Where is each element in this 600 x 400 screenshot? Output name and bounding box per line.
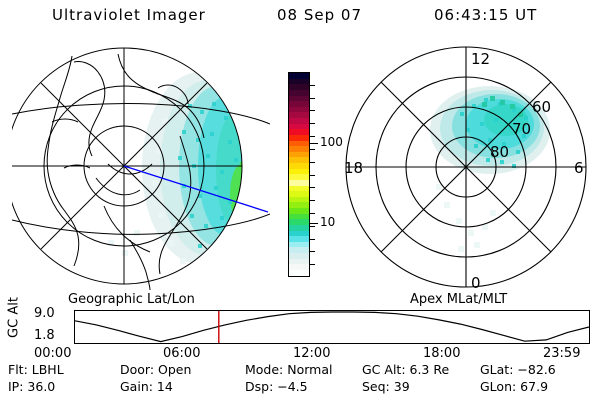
orbit-plot-box[interactable] (74, 310, 590, 344)
magnetic-panel-title: Apex MLat/MLT (410, 292, 507, 307)
colorbar-ticks (310, 72, 318, 277)
colorbar-scale[interactable] (288, 72, 310, 277)
orbit-xtick-0: 00:00 (34, 346, 71, 361)
status-glat: GLat: −82.6 (480, 362, 556, 377)
status-door: Door: Open (120, 362, 191, 377)
status-row-2: IP: 36.0 Gain: 14 Dsp: −4.5 Seq: 39 GLon… (0, 379, 600, 397)
colorbar-minor-tick-5 (310, 136, 315, 137)
geographic-panel-title: Geographic Lat/Lon (68, 292, 195, 307)
magnetic-polar-panel[interactable]: 12 6 0 18 60 70 80 (340, 42, 592, 292)
mlat-label-60: 60 (532, 98, 551, 116)
header-bar: Ultraviolet Imager 08 Sep 07 06:43:15 UT (0, 6, 600, 32)
colorbar-minor-tick-1 (310, 85, 315, 86)
mlt-label-12: 12 (471, 50, 490, 68)
magnetic-polar-svg: 12 6 0 18 60 70 80 (340, 42, 592, 292)
colorbar-major-tick-1 (310, 223, 318, 224)
status-seq: Seq: 39 (362, 379, 410, 394)
status-flight: Flt: LBHL (8, 362, 64, 377)
colorbar-minor-tick-13 (310, 239, 315, 240)
mlt-spokes (346, 47, 586, 287)
mlat-label-70: 70 (512, 120, 531, 138)
orbit-y-axis-label: GC Alt (7, 286, 22, 350)
orbit-plot-svg (75, 311, 589, 343)
orbit-altitude-panel[interactable]: Geographic Lat/Lon Apex MLat/MLT GC Alt … (0, 292, 600, 356)
colorbar-minor-tick-10 (310, 200, 315, 201)
status-gain: Gain: 14 (120, 379, 173, 394)
graticule-layer (12, 48, 270, 284)
colorbar-minor-tick-4 (310, 123, 315, 124)
status-gc-alt: GC Alt: 6.3 Re (362, 362, 449, 377)
colorbar-minor-tick-8 (310, 175, 315, 176)
colorbar-tick-label-10: 10 (320, 216, 335, 228)
mlat-label-80: 80 (490, 143, 509, 161)
orbit-altitude-curve (75, 312, 589, 342)
status-row-1: Flt: LBHL Door: Open Mode: Normal GC Alt… (0, 362, 600, 380)
geographic-map-svg (12, 44, 270, 292)
status-ip: IP: 36.0 (8, 379, 55, 394)
orbit-xtick-3: 18:00 (423, 346, 460, 361)
orbit-xtick-1: 06:00 (163, 346, 200, 361)
colorbar-band-35 (289, 270, 309, 276)
observation-time: 06:43:15 UT (434, 6, 537, 24)
colorbar-minor-tick-12 (310, 226, 315, 227)
colorbar-minor-tick-14 (310, 251, 315, 252)
colorbar-minor-tick-6 (310, 149, 315, 150)
orbit-xtick-2: 12:00 (293, 346, 330, 361)
orbit-ytick-max: 9.0 (34, 306, 55, 321)
status-mode: Mode: Normal (245, 362, 332, 377)
colorbar-gradient (289, 73, 309, 276)
orbit-ytick-min: 1.8 (34, 328, 55, 343)
status-dsp: Dsp: −4.5 (245, 379, 308, 394)
mlt-label-18: 18 (344, 159, 363, 177)
orbit-xtick-4: 23:59 (543, 346, 580, 361)
colorbar-minor-tick-11 (310, 213, 315, 214)
colorbar-minor-tick-15 (310, 264, 315, 265)
colorbar-minor-tick-3 (310, 110, 315, 111)
instrument-title: Ultraviolet Imager (52, 6, 206, 24)
colorbar-minor-tick-9 (310, 187, 315, 188)
mlt-label-6: 6 (574, 159, 584, 177)
colorbar-minor-tick-2 (310, 98, 315, 99)
status-bar: Flt: LBHL Door: Open Mode: Normal GC Alt… (0, 362, 600, 400)
colorbar-group[interactable]: photon cm-2s-1 10010 (276, 60, 340, 295)
mlt-label-0: 0 (471, 274, 481, 292)
colorbar-minor-tick-7 (310, 162, 315, 163)
colorbar-major-tick-0 (310, 143, 318, 144)
geographic-map-panel[interactable] (12, 44, 270, 292)
status-glon: GLon: 67.9 (480, 379, 548, 394)
observation-date: 08 Sep 07 (277, 6, 362, 24)
